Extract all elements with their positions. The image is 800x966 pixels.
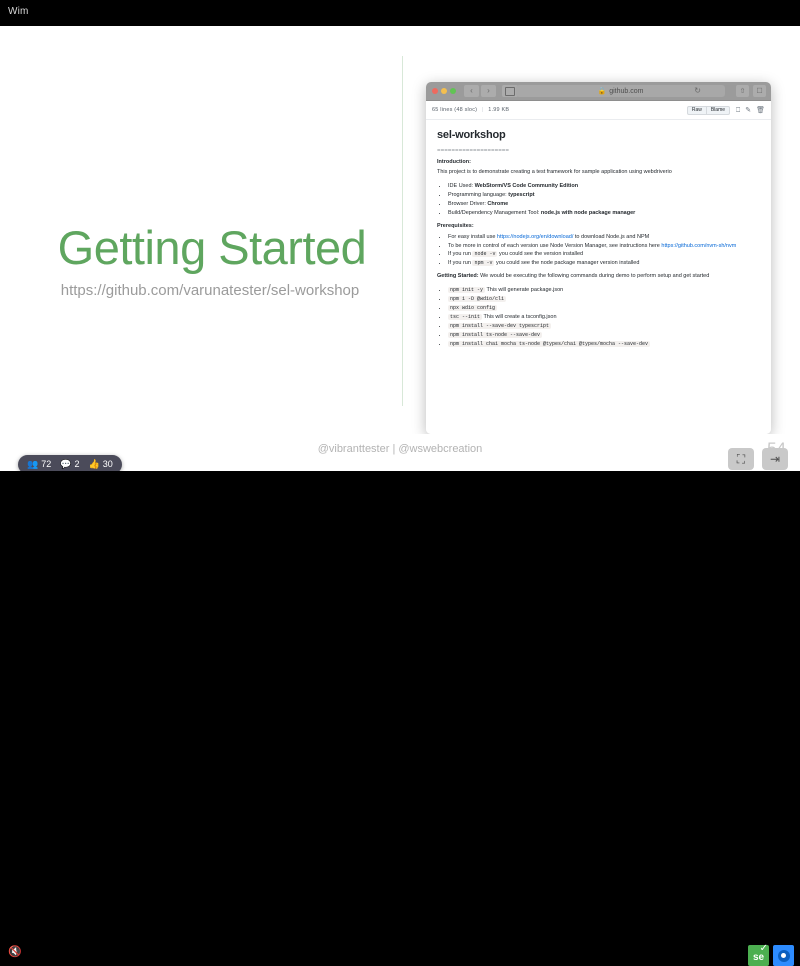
readme-rule: ==================== [437,147,760,154]
stack-list: IDE Used: WebStorm/VS Code Community Edi… [437,182,760,218]
thumbs-up-icon: 👍 [88,460,99,469]
list-item-strong: WebStorm/VS Code Community Edition [475,183,579,189]
check-icon: ✓ [760,944,768,954]
nav-buttons: ‹ › [464,85,496,97]
selenium-app-icon[interactable]: se ✓ [748,945,769,966]
inline-code: npm -v [472,260,494,266]
share-icon[interactable]: ⇧ [736,85,749,97]
maximize-icon[interactable] [450,88,456,94]
file-toolbar: 65 lines (48 sloc) | 1.99 KB Raw Blame ⎕… [426,101,771,120]
list-item: Programming language: typescript [448,191,760,200]
prerequisites-label: Prerequisites: [437,223,760,229]
file-size-text: 1.99 KB [488,107,509,113]
browser-window-screenshot: ‹ › 🔒 github.com ↻ ⇧ ☐ [426,82,771,434]
raw-button[interactable]: Raw [687,106,707,115]
inline-code: node -v [472,251,497,257]
repo-url-text: https://github.com/varunatester/sel-work… [25,282,395,299]
chrome-right-buttons: ⇧ ☐ [736,85,766,97]
window-titlebar: Wim [0,0,800,26]
traffic-lights [432,88,456,94]
list-item: npm install --save-dev typescript [448,322,760,331]
zoom-app-icon[interactable] [773,945,794,966]
inline-code: npm install chai mocha ts-node @types/ch… [448,341,650,347]
comments-stat: 💬 2 [60,460,79,469]
list-item: If you run npm -v you could see the node… [448,259,760,268]
browser-chrome: ‹ › 🔒 github.com ↻ ⇧ ☐ [426,82,771,101]
chat-icon: 💬 [60,460,71,469]
comments-count: 2 [74,460,79,469]
url-host-text: github.com [609,88,643,95]
likes-count: 30 [103,460,113,469]
inline-code: npm install --save-dev typescript [448,323,551,329]
inline-code: npx wdio config [448,305,497,311]
likes-stat: 👍 30 [88,460,112,469]
camera-icon [778,950,790,962]
close-icon[interactable] [432,88,438,94]
reload-icon[interactable]: ↻ [694,87,701,95]
list-item: If you run node -v you could see the ver… [448,250,760,259]
file-action-icons: ⎕ ✎ 🗑 [736,107,765,114]
inline-code: npm init -y [448,287,485,293]
file-meta-separator: | [482,107,484,113]
social-handles: @vibranttester | @wswebcreation [0,443,800,455]
readme-content: sel-workshop ==================== Introd… [426,120,771,434]
file-meta: 65 lines (48 sloc) | 1.99 KB [432,107,509,113]
list-item-strong: Chrome [487,201,508,207]
list-item: To be more in control of each version us… [448,242,760,251]
list-item: For easy install use https://nodejs.org/… [448,233,760,242]
file-lines-text: 65 lines (48 sloc) [432,107,477,113]
getting-started-paragraph: Getting Started: We would be executing t… [437,273,760,281]
new-tab-icon[interactable]: ☐ [753,85,766,97]
list-item: npx wdio config [448,304,760,313]
minimize-icon[interactable] [441,88,447,94]
desktop-icon[interactable]: ⎕ [736,107,740,114]
lock-icon: 🔒 [598,88,607,95]
page-title: Getting Started [47,223,377,272]
list-item: npm i -D @wdio/cli [448,295,760,304]
mic-muted-icon[interactable]: 🔇 [8,947,22,958]
forward-icon[interactable]: › [481,85,496,97]
getting-started-text: We would be executing the following comm… [479,273,710,279]
presentation-slide: Getting Started https://github.com/varun… [0,26,800,434]
list-item-strong: typescript [508,192,534,198]
list-item: Browser Driver: Chrome [448,200,760,209]
prerequisites-list: For easy install use https://nodejs.org/… [437,233,760,269]
getting-started-label: Getting Started: [437,273,479,279]
pencil-icon[interactable]: ✎ [745,107,751,114]
introduction-label: Introduction: [437,159,760,165]
list-item: tsc --init This will create a tsconfig.j… [448,313,760,322]
list-item: npm install ts-node --save-dev [448,331,760,340]
inline-code: npm i -D @wdio/cli [448,296,506,302]
external-link[interactable]: https://github.com/nvm-sh/nvm [661,243,736,249]
inline-code: tsc --init [448,314,482,320]
list-item: Build/Dependency Management Tool: node.j… [448,209,760,218]
list-item: IDE Used: WebStorm/VS Code Community Edi… [448,182,760,191]
introduction-text: This project is to demonstrate creating … [437,169,760,177]
trash-icon[interactable]: 🗑 [756,107,765,114]
list-item-strong: node.js with node package manager [541,210,635,216]
taskbar-icons: se ✓ [748,945,794,966]
readme-title: sel-workshop [437,129,760,141]
commands-list: npm init -y This will generate package.j… [437,286,760,348]
people-icon: 👥 [27,460,38,469]
fullscreen-button[interactable]: ⛶ [728,448,754,470]
viewers-stat: 👥 72 [27,460,51,469]
exit-presentation-button[interactable]: ⇥ [762,448,788,470]
window-title: Wim [8,6,29,17]
taskbar: 🔇 se ✓ [0,471,800,500]
list-item: npm init -y This will generate package.j… [448,286,760,295]
external-link[interactable]: https://nodejs.org/en/download/ [497,234,573,240]
slide-controls: ⛶ ⇥ [728,448,788,470]
sidebar-glyph [505,87,515,96]
viewers-count: 72 [41,460,51,469]
slide-divider [402,56,403,406]
back-icon[interactable]: ‹ [464,85,479,97]
file-view-buttons: Raw Blame [687,106,730,115]
url-bar[interactable]: 🔒 github.com ↻ [516,85,725,97]
blame-button[interactable]: Blame [707,106,730,115]
list-item: npm install chai mocha ts-node @types/ch… [448,340,760,349]
inline-code: npm install ts-node --save-dev [448,332,542,338]
screen-root: Wim Getting Started https://github.com/v… [0,0,800,500]
